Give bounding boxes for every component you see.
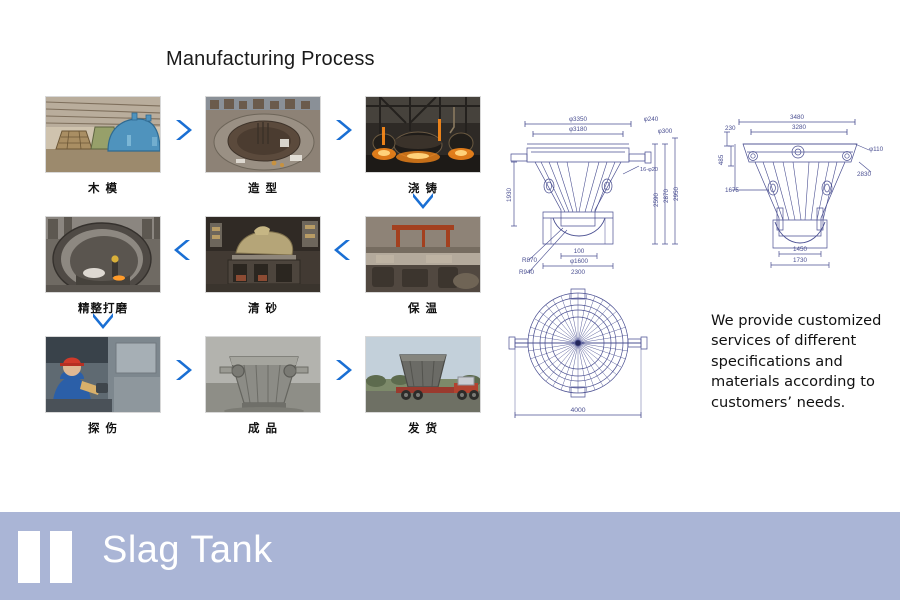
dim-485: 485 xyxy=(718,154,725,165)
process-caption-insulation: 保 温 xyxy=(365,300,481,316)
process-photo-sand-cleaning xyxy=(205,216,321,293)
process-photo-pouring xyxy=(365,96,481,173)
process-caption-flaw-detection: 探 伤 xyxy=(45,420,161,436)
dim-230: 230 xyxy=(725,125,736,132)
dim-2590: 2590 xyxy=(653,193,660,208)
process-step-grinding[interactable]: 精整打磨 xyxy=(45,216,161,316)
process-step-delivery[interactable]: 发 货 xyxy=(365,336,481,436)
arrow-left-icon-1 xyxy=(328,235,358,265)
dim-d3350: φ3350 xyxy=(569,116,588,123)
process-photo-finished-product xyxy=(205,336,321,413)
process-caption-moulding: 造 型 xyxy=(205,180,321,196)
dim-d3180: φ3180 xyxy=(569,126,588,133)
arrow-right-icon-2 xyxy=(328,115,358,145)
process-step-wood-mould[interactable]: 木 模 xyxy=(45,96,161,196)
process-step-sand-cleaning[interactable]: 清 砂 xyxy=(205,216,321,316)
technical-drawing-plan-view: 4000 xyxy=(505,285,700,430)
dim-r940: R940 xyxy=(519,269,535,276)
process-caption-delivery: 发 货 xyxy=(365,420,481,436)
dim-1675: 1675 xyxy=(725,187,740,194)
dim-1730: 1730 xyxy=(793,257,808,264)
bottom-banner: Slag Tank xyxy=(0,512,900,600)
dim-d1600: φ1600 xyxy=(570,258,589,265)
dim-2830: 2830 xyxy=(857,171,872,178)
dim-2950: 2950 xyxy=(673,187,680,202)
dim-16-d20: 16-φ20 xyxy=(640,167,658,173)
arrow-right-icon-1 xyxy=(168,115,198,145)
slide-root: Manufacturing Process xyxy=(0,0,900,600)
dim-d300: φ300 xyxy=(658,128,673,135)
process-photo-wood-mould xyxy=(45,96,161,173)
process-photo-delivery xyxy=(365,336,481,413)
banner-bar-left-icon xyxy=(18,531,40,583)
dim-2870: 2870 xyxy=(663,189,670,204)
arrow-down-icon-2 xyxy=(88,305,118,335)
dim-100: 100 xyxy=(574,248,585,255)
process-caption-wood-mould: 木 模 xyxy=(45,180,161,196)
banner-bar-right-icon xyxy=(50,531,72,583)
banner-title: Slag Tank xyxy=(102,529,273,572)
page-title: Manufacturing Process xyxy=(166,48,375,71)
process-caption-finished-product: 成 品 xyxy=(205,420,321,436)
process-step-flaw-detection[interactable]: 探 伤 xyxy=(45,336,161,436)
process-photo-moulding xyxy=(205,96,321,173)
manufacturing-process-flow: 木 模 xyxy=(0,88,500,438)
process-step-pouring[interactable]: 浇 铸 xyxy=(365,96,481,196)
process-photo-flaw-detection xyxy=(45,336,161,413)
arrow-right-icon-3 xyxy=(168,355,198,385)
dim-2300: 2300 xyxy=(571,269,586,276)
process-photo-grinding xyxy=(45,216,161,293)
dim-4000: 4000 xyxy=(570,407,585,414)
dim-d110: φ110 xyxy=(869,146,884,153)
process-step-moulding[interactable]: 造 型 xyxy=(205,96,321,196)
arrow-left-icon-2 xyxy=(168,235,198,265)
dim-1450: 1450 xyxy=(793,246,808,253)
technical-drawing-side-view: 3480 3280 230 φ110 2830 1675 1450 1730 4… xyxy=(705,100,895,285)
arrow-right-icon-4 xyxy=(328,355,358,385)
process-photo-insulation xyxy=(365,216,481,293)
services-blurb: We provide customized services of differ… xyxy=(711,311,891,413)
technical-drawing-front-view: φ3350 φ3180 φ240 φ300 100 φ1600 2300 R87… xyxy=(505,100,700,285)
process-caption-sand-cleaning: 清 砂 xyxy=(205,300,321,316)
process-step-finished-product[interactable]: 成 品 xyxy=(205,336,321,436)
dim-3480: 3480 xyxy=(790,114,805,121)
process-step-insulation[interactable]: 保 温 xyxy=(365,216,481,316)
dim-1930: 1930 xyxy=(506,188,513,203)
arrow-down-icon-1 xyxy=(408,185,438,215)
dim-d240: φ240 xyxy=(644,116,659,123)
dim-r870: R870 xyxy=(522,257,538,264)
dim-3280: 3280 xyxy=(792,124,807,131)
